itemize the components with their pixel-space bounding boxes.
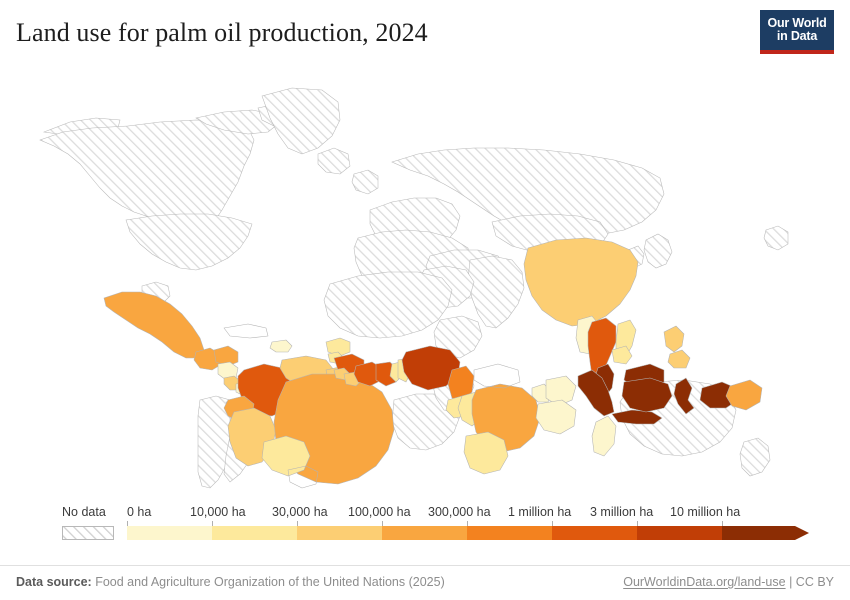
country-papua-new-guinea	[726, 380, 762, 410]
legend-tick-7	[722, 521, 723, 526]
legend-tick-3	[382, 521, 383, 526]
country-cuba	[224, 324, 268, 338]
legend-tick-5	[552, 521, 553, 526]
legend-tick-label-4: 300,000 ha	[428, 505, 491, 519]
legend-arrow-icon	[795, 526, 809, 540]
legend-tick-4	[467, 521, 468, 526]
legend-no-data-hatch	[63, 527, 113, 539]
data-source: Data source: Food and Agriculture Organi…	[16, 575, 445, 589]
owid-logo-line2: in Data	[777, 30, 817, 44]
legend-tick-6	[637, 521, 638, 526]
legend-bin-4[interactable]	[467, 526, 552, 540]
legend-bin-0[interactable]	[127, 526, 212, 540]
legend-label-row: No data 0 ha 10,000 ha 30,000 ha 100,000…	[0, 505, 850, 522]
legend-tick-label-5: 1 million ha	[508, 505, 571, 519]
license-line: OurWorldinData.org/land-use | CC BY	[623, 575, 834, 589]
country-car	[474, 364, 520, 388]
legend-tick-label-0: 0 ha	[127, 505, 151, 519]
license-text[interactable]: CC BY	[796, 575, 834, 589]
country-philippines-south	[668, 350, 690, 368]
legend-bin-2[interactable]	[297, 526, 382, 540]
data-source-text: Food and Agriculture Organization of the…	[95, 575, 445, 589]
country-dominican-republic	[270, 340, 292, 352]
legend-bin-6[interactable]	[637, 526, 722, 540]
country-mexico	[104, 292, 204, 358]
owid-logo-line1: Our World	[767, 17, 826, 31]
owid-logo[interactable]: Our World in Data	[760, 10, 834, 54]
legend-tick-1	[212, 521, 213, 526]
country-philippines	[664, 326, 684, 352]
legend-tick-label-6: 3 million ha	[590, 505, 653, 519]
owid-url-link[interactable]: OurWorldinData.org/land-use	[623, 575, 785, 589]
chart-root: Land use for palm oil production, 2024 O…	[0, 0, 850, 600]
map-legend: No data 0 ha 10,000 ha 30,000 ha 100,000…	[0, 505, 850, 553]
country-china	[524, 238, 638, 326]
data-source-label: Data source:	[16, 575, 92, 589]
country-madagascar	[592, 416, 616, 456]
legend-tick-label-3: 100,000 ha	[348, 505, 411, 519]
legend-no-data-label: No data	[62, 505, 106, 519]
country-indonesia-kalimantan	[622, 378, 672, 412]
legend-bin-1[interactable]	[212, 526, 297, 540]
legend-bin-5[interactable]	[552, 526, 637, 540]
page-title: Land use for palm oil production, 2024	[16, 10, 834, 48]
license-separator: |	[789, 575, 792, 589]
legend-tick-2	[297, 521, 298, 526]
map-nodata-layer	[40, 88, 788, 488]
country-tanzania	[536, 400, 576, 434]
legend-tick-label-2: 30,000 ha	[272, 505, 328, 519]
legend-tick-label-1: 10,000 ha	[190, 505, 246, 519]
legend-color-bar[interactable]	[127, 526, 807, 540]
legend-tick-0	[127, 521, 128, 526]
country-bolivia	[262, 436, 310, 476]
chart-header: Land use for palm oil production, 2024 O…	[16, 10, 834, 66]
legend-tick-label-7: 10 million ha	[670, 505, 740, 519]
legend-bin-7[interactable]	[722, 526, 795, 540]
legend-no-data-swatch[interactable]	[62, 526, 114, 540]
world-map[interactable]	[0, 70, 850, 495]
legend-bin-3[interactable]	[382, 526, 467, 540]
chart-footer: Data source: Food and Agriculture Organi…	[0, 565, 850, 600]
